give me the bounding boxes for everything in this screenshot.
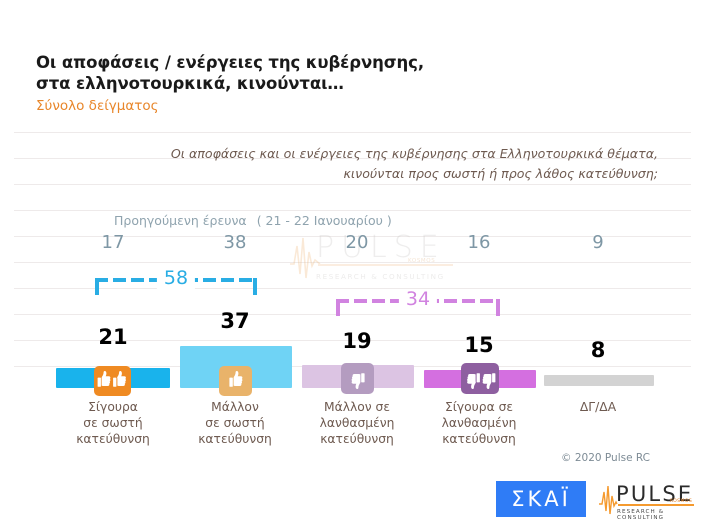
title-line-2: στα ελληνοτουρκικά, κινούνται… — [36, 73, 596, 94]
poll-chart-slide: PULSE KOSMOS RESEARCH & CONSULTING Οι απ… — [0, 0, 701, 531]
skai-logo: ΣΚΑΪ — [496, 481, 586, 517]
category-label-1: Μάλλον σε σωστή κατεύθυνση — [181, 399, 289, 447]
category-label-0-line-1: σε σωστή — [59, 415, 167, 431]
category-label-0-line-2: κατεύθυνση — [59, 431, 167, 447]
double-thumbs-down-icon — [461, 363, 499, 394]
bracket-tick-left — [95, 278, 99, 295]
bracket-value-34: 34 — [399, 289, 437, 310]
thumbs-down-icon — [341, 363, 374, 394]
category-label-1-line-1: σε σωστή — [181, 415, 289, 431]
previous-survey-dates: ( 21 - 22 Ιανουαρίου ) — [257, 213, 392, 228]
skai-logo-text: ΣΚΑΪ — [511, 487, 571, 511]
category-label-1-line-0: Μάλλον — [181, 399, 289, 415]
pulse-logo-kosmos: KOSMOS — [670, 499, 692, 504]
previous-value-1: 38 — [205, 232, 265, 253]
double-thumbs-up-glyph — [97, 370, 128, 392]
bar-value-4: 8 — [568, 338, 628, 362]
pulse-logo-subtitle: RESEARCH & CONSULTING — [617, 509, 696, 521]
bar-segment-4[interactable] — [544, 375, 654, 386]
category-label-4-line-0: ΔΓ/ΔΑ — [544, 399, 652, 415]
gridline — [14, 314, 691, 315]
double-thumbs-down-glyph — [465, 368, 496, 390]
previous-value-4: 9 — [568, 232, 628, 253]
category-label-1-line-2: κατεύθυνση — [181, 431, 289, 447]
category-label-3-line-0: Σίγουρα σε — [425, 399, 533, 415]
category-label-4: ΔΓ/ΔΑ — [544, 399, 652, 415]
gridline — [14, 210, 691, 211]
thumbs-up-glyph — [226, 370, 246, 392]
pulse-logo: PULSE KOSMOS RESEARCH & CONSULTING — [598, 482, 696, 518]
previous-value-2: 20 — [327, 232, 387, 253]
subtitle: Σύνολο δείγματος — [36, 98, 596, 115]
bracket-right-direction: 58 — [95, 272, 257, 292]
bracket-tick-left — [336, 299, 340, 316]
gridline — [14, 262, 691, 263]
category-label-3-line-2: κατεύθυνση — [425, 431, 533, 447]
category-label-0-line-0: Σίγουρα — [59, 399, 167, 415]
category-label-3: Σίγουρα σε λανθασμένη κατεύθυνση — [425, 399, 533, 447]
thumbs-down-glyph — [348, 368, 368, 390]
double-thumbs-up-icon — [94, 366, 131, 396]
question-line-1: Οι αποφάσεις και οι ενέργειες της κυβέρν… — [150, 144, 658, 164]
question-text: Οι αποφάσεις και οι ενέργειες της κυβέρν… — [150, 144, 658, 184]
question-line-2: κινούνται προς σωστή ή προς λάθος κατεύθ… — [150, 164, 658, 184]
title-line-1: Οι αποφάσεις / ενέργειες της κυβέρνησης, — [36, 52, 596, 73]
bracket-wrong-direction: 34 — [336, 293, 500, 313]
category-label-2-line-0: Μάλλον σε — [303, 399, 411, 415]
thumbs-up-icon — [219, 366, 252, 396]
bracket-tick-right — [496, 299, 500, 316]
gridline — [14, 132, 691, 133]
waveform-icon — [598, 484, 618, 516]
category-label-0: Σίγουρα σε σωστή κατεύθυνση — [59, 399, 167, 447]
category-label-2-line-2: κατεύθυνση — [303, 431, 411, 447]
pulse-logo-rule — [618, 504, 694, 506]
previous-value-3: 16 — [449, 232, 509, 253]
bracket-value-58: 58 — [157, 268, 195, 289]
bar-value-2: 19 — [327, 329, 387, 353]
bar-value-1: 37 — [205, 309, 265, 333]
bracket-tick-right — [253, 278, 257, 295]
category-label-3-line-1: λανθασμένη — [425, 415, 533, 431]
category-label-2-line-1: λανθασμένη — [303, 415, 411, 431]
bar-value-3: 15 — [449, 333, 509, 357]
previous-survey-label: Προηγούμενη έρευνα( 21 - 22 Ιανουαρίου ) — [114, 213, 392, 228]
previous-value-0: 17 — [83, 232, 143, 253]
page-title: Οι αποφάσεις / ενέργειες της κυβέρνησης,… — [36, 52, 596, 115]
category-label-2: Μάλλον σε λανθασμένη κατεύθυνση — [303, 399, 411, 447]
copyright-text: © 2020 Pulse RC — [561, 452, 650, 464]
gridline — [14, 184, 691, 185]
bar-value-0: 21 — [83, 325, 143, 349]
previous-survey-title: Προηγούμενη έρευνα — [114, 213, 247, 228]
